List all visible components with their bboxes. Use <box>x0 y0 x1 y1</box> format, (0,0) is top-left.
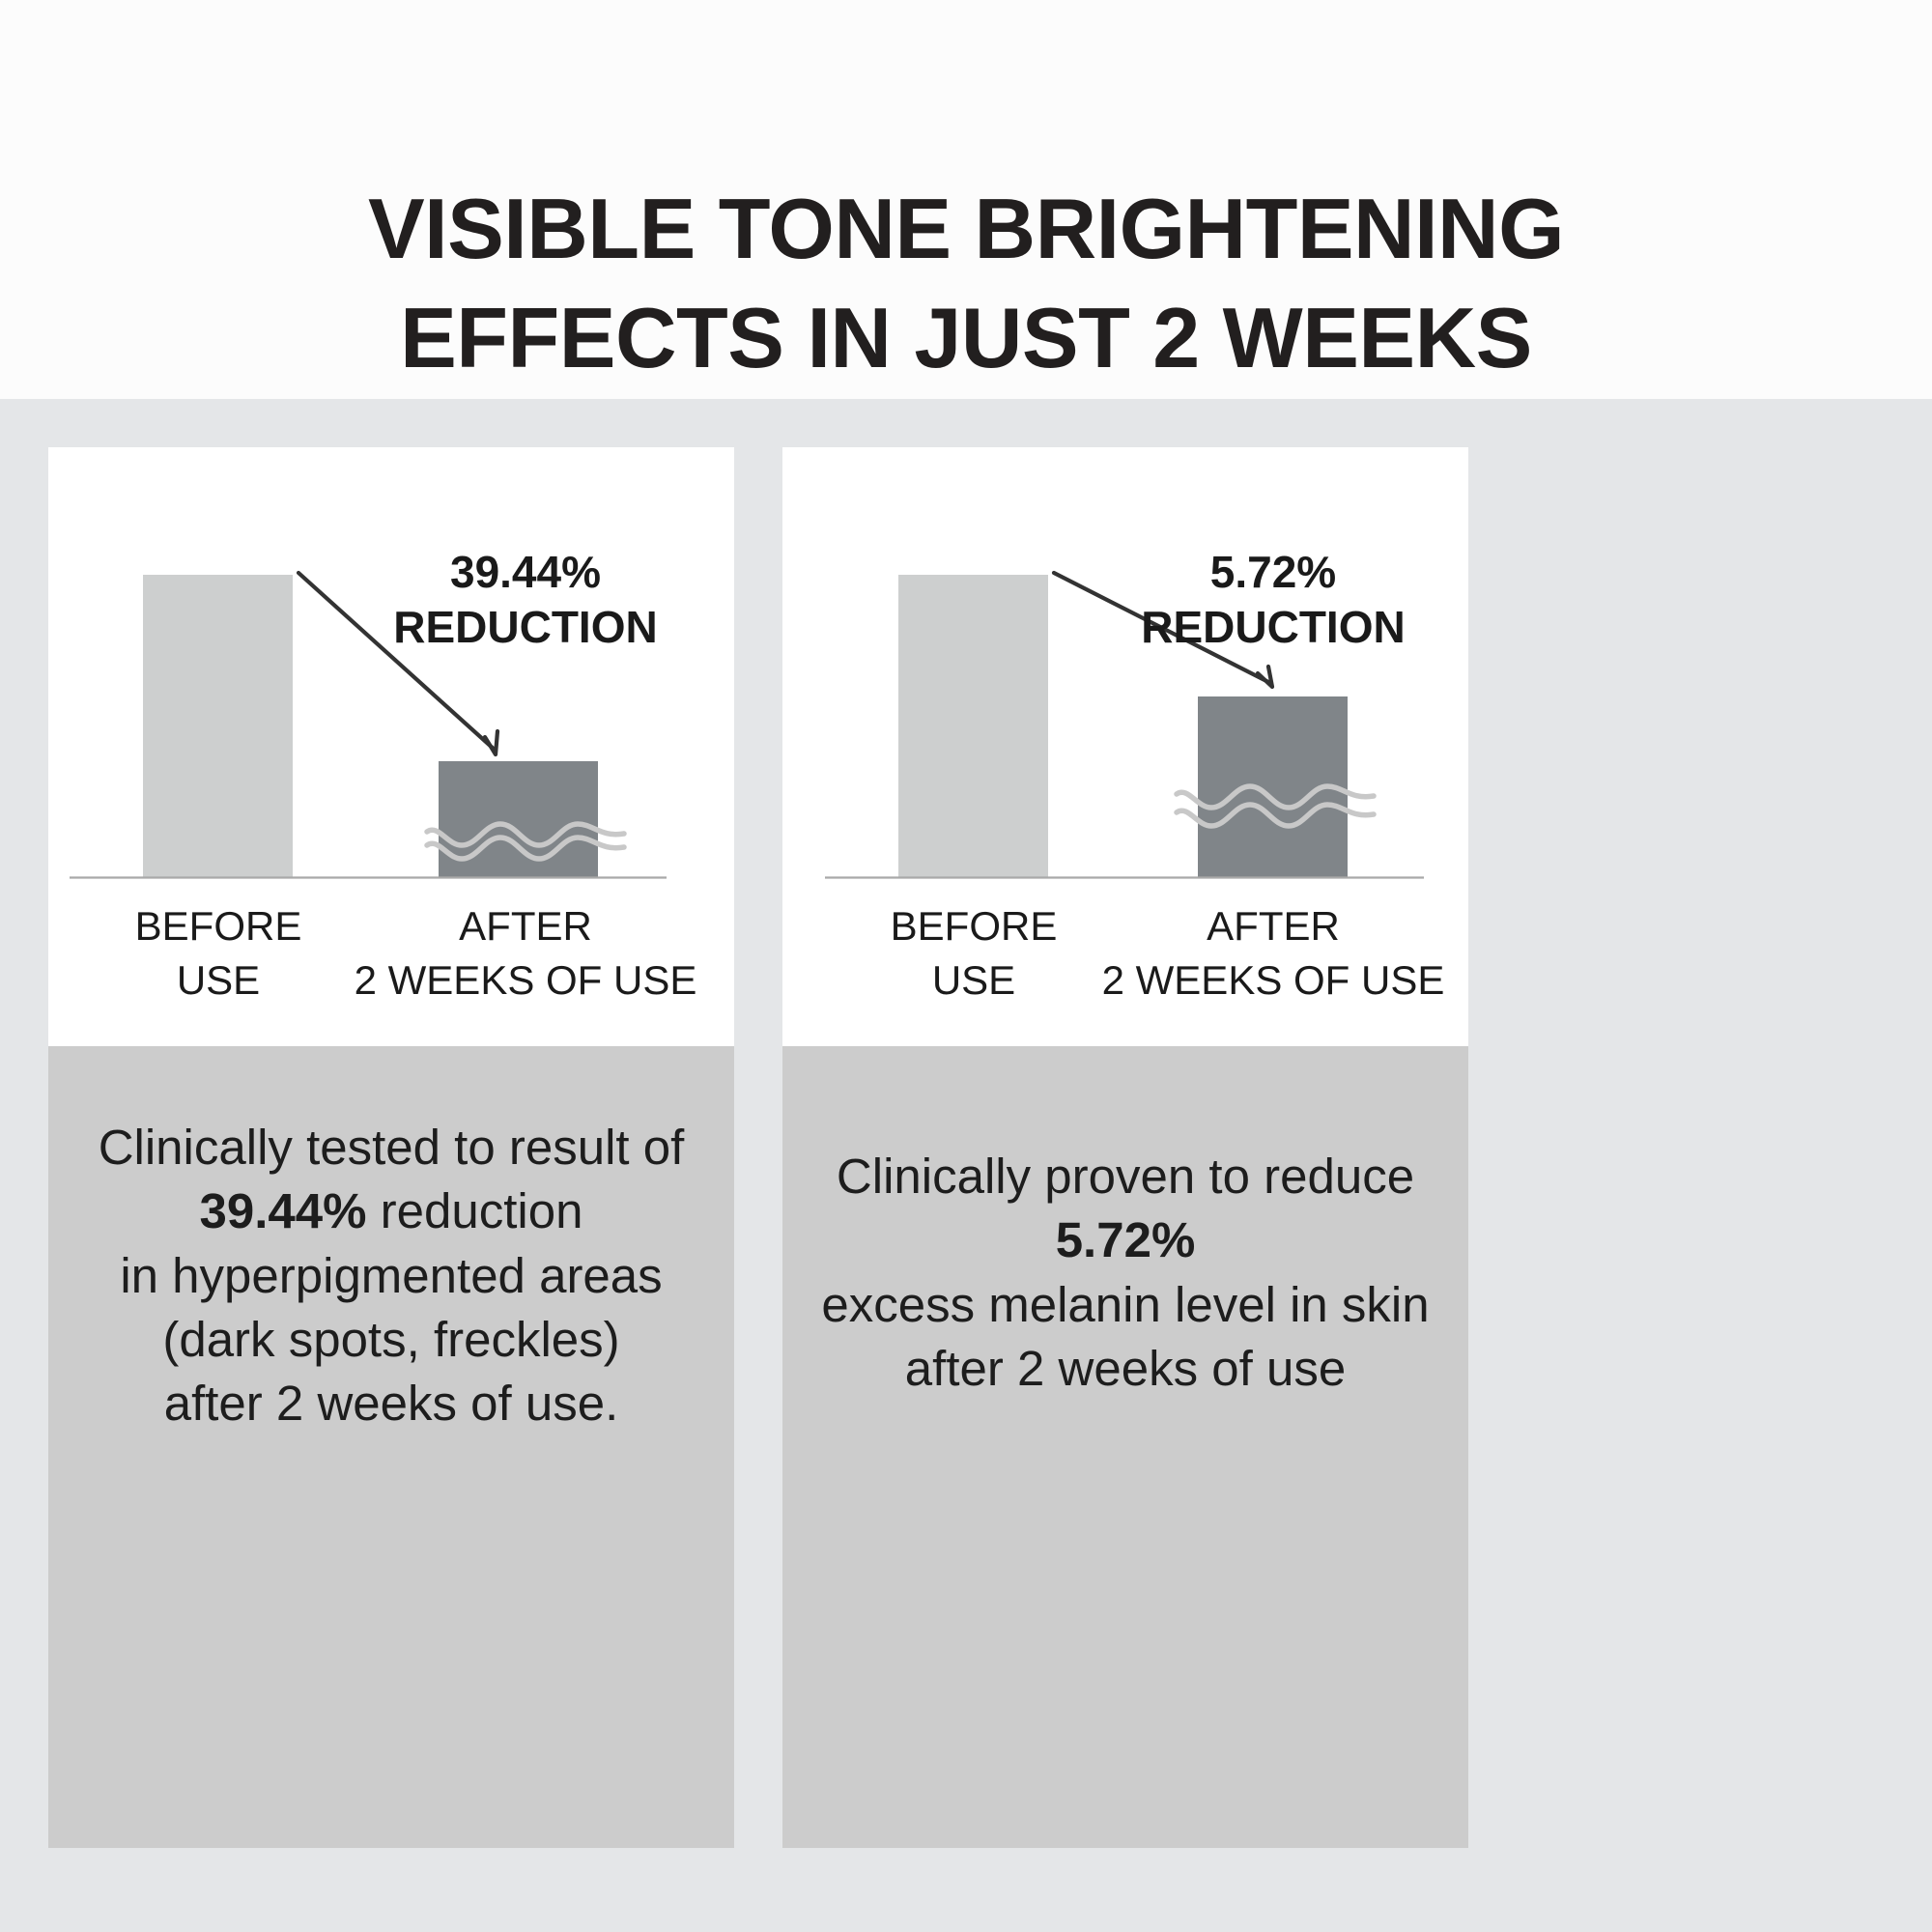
callout-label-left: REDUCTION <box>393 602 657 652</box>
bar-before-left <box>143 575 293 877</box>
caption-line: 5.72% <box>1056 1208 1196 1272</box>
caption-line: after 2 weeks of use. <box>164 1372 619 1435</box>
panel-melanin: 5.72% REDUCTION BEFORE USE AFTER 2 WEEKS… <box>782 447 1468 1848</box>
page-title-line-2: EFFECTS IN JUST 2 WEEKS <box>368 284 1564 393</box>
bar-chart-svg-left: 39.44% REDUCTION BEFORE USE AFTER 2 WEEK… <box>48 447 734 1046</box>
bar-before-right <box>898 575 1048 877</box>
caption-highlight: 39.44% <box>200 1183 367 1238</box>
axis-label-before-line2-right: USE <box>932 957 1015 1003</box>
caption-hyperpigmentation: Clinically tested to result of 39.44% re… <box>48 1046 734 1848</box>
caption-line: 39.44% reduction <box>200 1179 583 1243</box>
callout-value-left: 39.44% <box>450 547 601 597</box>
caption-line-rest: reduction <box>367 1183 583 1238</box>
axis-label-after-line2-right: 2 WEEKS OF USE <box>1102 957 1445 1003</box>
callout-value-right: 5.72% <box>1210 547 1336 597</box>
caption-line: (dark spots, freckles) <box>162 1308 619 1372</box>
page-title-line-1: VISIBLE TONE BRIGHTENING <box>368 175 1564 284</box>
infographic-root: VISIBLE TONE BRIGHTENING EFFECTS IN JUST… <box>0 0 1932 1932</box>
axis-label-before-line2-left: USE <box>177 957 260 1003</box>
header-banner: VISIBLE TONE BRIGHTENING EFFECTS IN JUST… <box>0 0 1932 399</box>
axis-label-before-line1-right: BEFORE <box>891 903 1058 949</box>
caption-line: in hyperpigmented areas <box>120 1244 662 1308</box>
caption-melanin: Clinically proven to reduce 5.72% excess… <box>782 1046 1468 1848</box>
axis-label-after-line1-left: AFTER <box>459 903 592 949</box>
reduction-arrow-left <box>298 573 497 754</box>
axis-label-after-line1-right: AFTER <box>1207 903 1340 949</box>
caption-line: excess melanin level in skin <box>821 1273 1429 1337</box>
panels-container: 39.44% REDUCTION BEFORE USE AFTER 2 WEEK… <box>0 399 1932 1932</box>
page-title: VISIBLE TONE BRIGHTENING EFFECTS IN JUST… <box>368 175 1564 392</box>
chart-hyperpigmentation: 39.44% REDUCTION BEFORE USE AFTER 2 WEEK… <box>48 447 734 1046</box>
panel-hyperpigmentation: 39.44% REDUCTION BEFORE USE AFTER 2 WEEK… <box>48 447 734 1848</box>
caption-highlight: 5.72% <box>1056 1212 1196 1267</box>
bar-chart-svg-right: 5.72% REDUCTION BEFORE USE AFTER 2 WEEKS… <box>782 447 1468 1046</box>
caption-line: Clinically tested to result of <box>99 1116 685 1179</box>
callout-label-right: REDUCTION <box>1141 602 1405 652</box>
axis-label-before-line1-left: BEFORE <box>135 903 302 949</box>
chart-melanin: 5.72% REDUCTION BEFORE USE AFTER 2 WEEKS… <box>782 447 1468 1046</box>
caption-line: Clinically proven to reduce <box>837 1145 1414 1208</box>
axis-label-after-line2-left: 2 WEEKS OF USE <box>355 957 697 1003</box>
caption-line: after 2 weeks of use <box>905 1337 1346 1401</box>
